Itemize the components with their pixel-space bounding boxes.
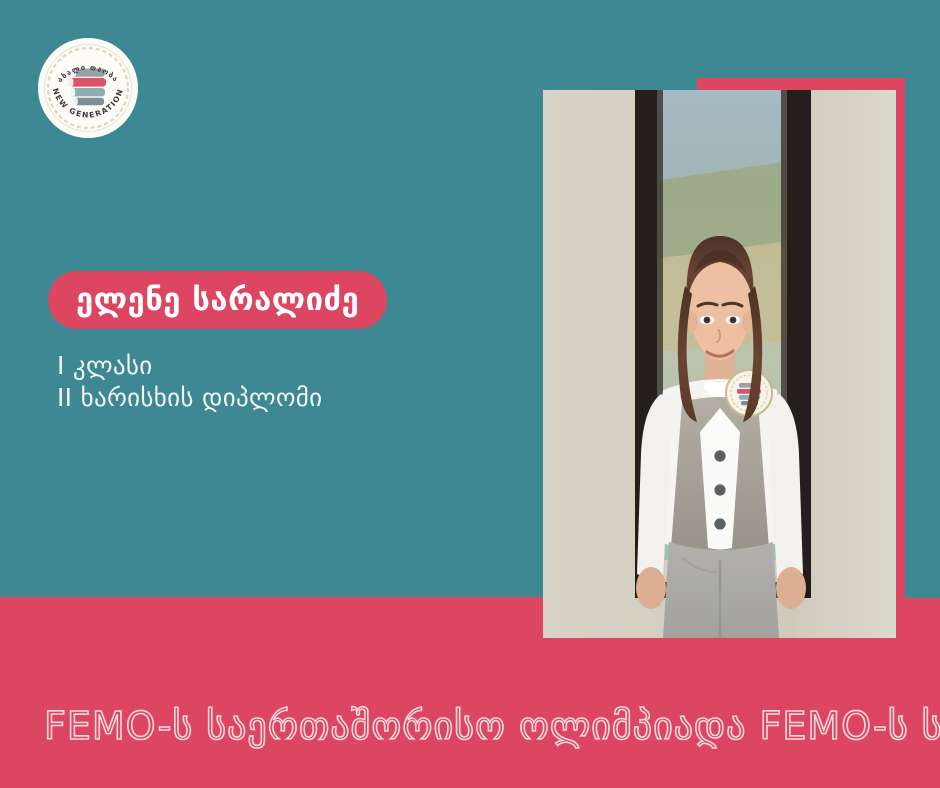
- student-grade: I კლასი: [57, 350, 322, 382]
- student-photo: [543, 90, 896, 638]
- banner-text: FEMO-ს საერთაშორისო ოლიმპიადა FEMO-ს სა: [0, 704, 940, 748]
- award-card: ახალი თაობა NEW GENERATION ელენე სარალიძ…: [0, 0, 940, 788]
- student-details: I კლასი II ხარისხის დიპლომი: [57, 350, 322, 414]
- student-award: II ხარისხის დიპლომი: [57, 382, 322, 414]
- student-name-badge: ელენე სარალიძე: [48, 271, 387, 329]
- stacked-books-icon: ახალი თაობა NEW GENERATION: [38, 38, 138, 138]
- school-logo: ახალი თაობა NEW GENERATION: [38, 38, 138, 138]
- student-photo-image: [543, 90, 896, 638]
- student-name: ელენე სარალიძე: [76, 285, 359, 316]
- bottom-banner: FEMO-ს საერთაშორისო ოლიმპიადა FEMO-ს სა: [0, 690, 940, 762]
